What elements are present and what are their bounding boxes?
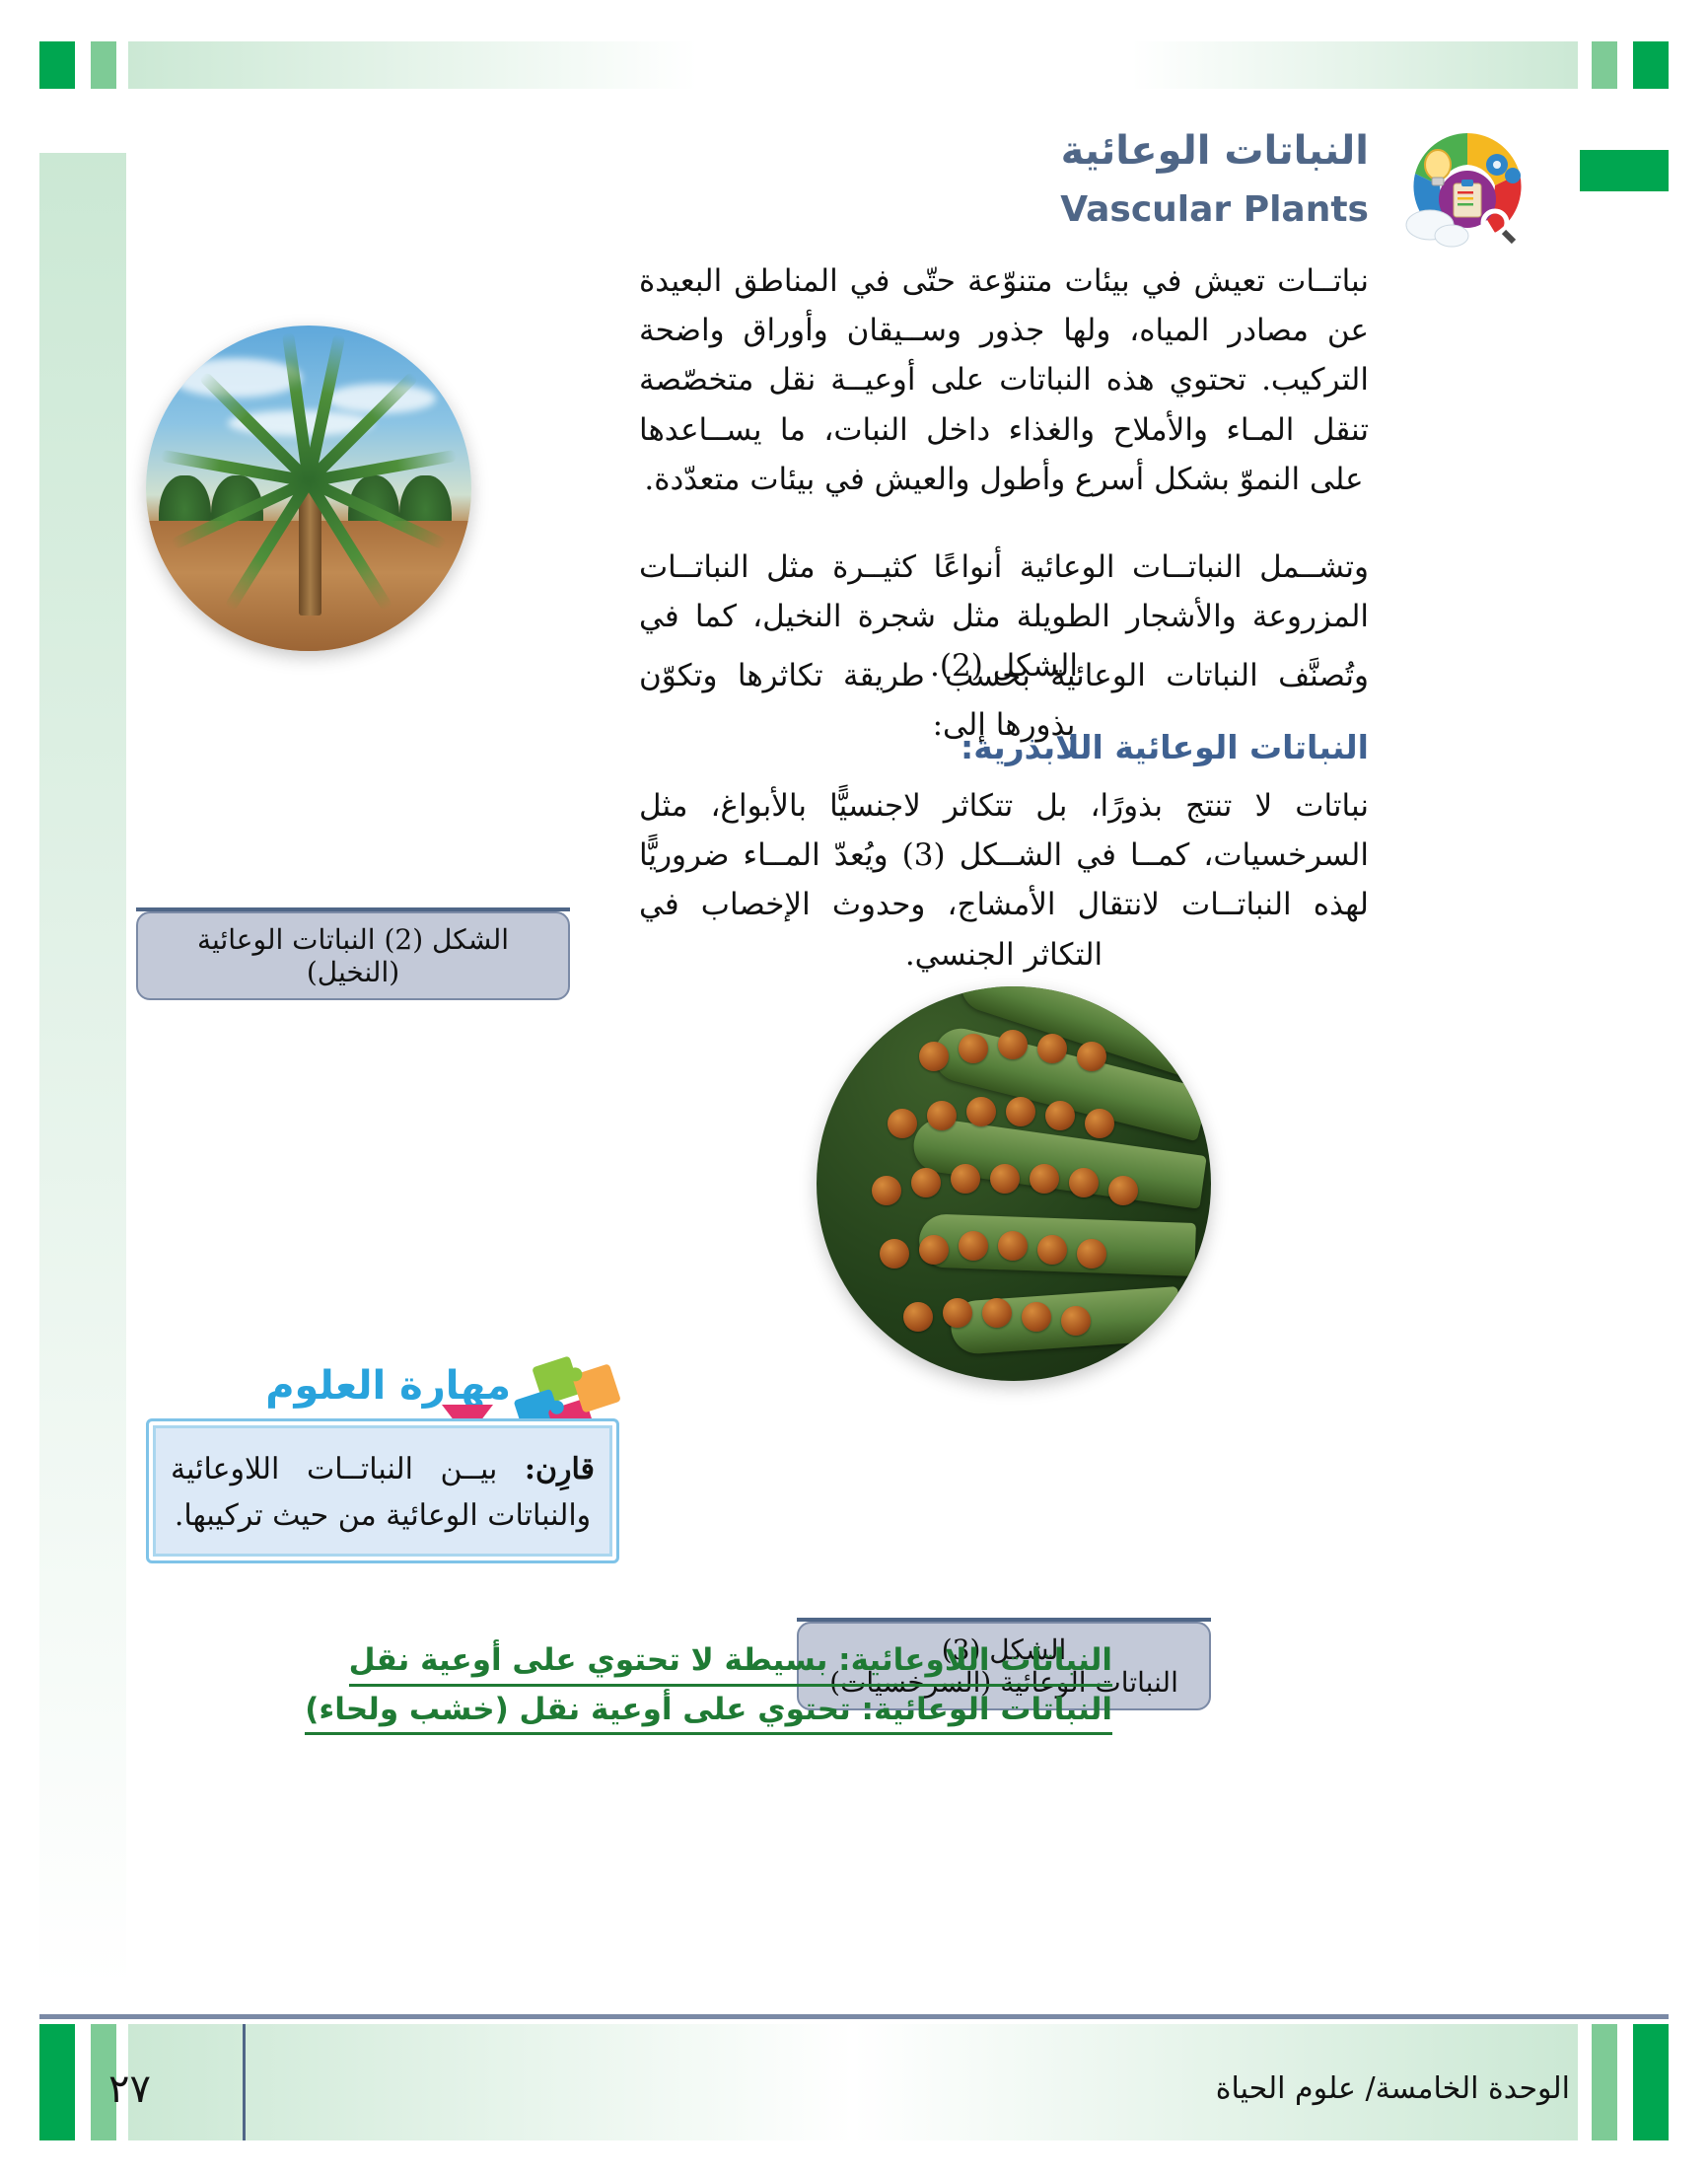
figure-2-caption: الشكل (2) النباتات الوعائية (النخيل)	[136, 911, 570, 1000]
footer-bar-green-dark-left	[39, 2024, 75, 2140]
top-bar-gradient-left	[128, 41, 858, 89]
page-title: النباتات الوعائية	[1061, 128, 1369, 174]
fern-sori-photo	[817, 986, 1211, 1381]
page-number: ٢٧	[108, 2066, 151, 2112]
answer-line-2: النباتات الوعائية: تحتوي على أوعية نقل (…	[305, 1687, 1112, 1736]
top-bar-green-dark-left	[39, 41, 75, 89]
footer-unit-label: الوحدة الخامسة/ علوم الحياة	[1216, 2071, 1570, 2106]
skill-prompt-label: قارِن:	[525, 1452, 595, 1486]
top-bar-gradient-right	[1006, 41, 1578, 89]
answer-line-1: النباتات اللاوعائية: بسيطة لا تحتوي على …	[349, 1637, 1112, 1687]
footer-rule	[39, 2014, 1669, 2019]
science-process-wheel-icon	[1369, 109, 1566, 256]
right-green-tab	[1580, 150, 1669, 191]
science-skill-title: مهارة العلوم	[265, 1363, 511, 1409]
footer-divider	[243, 2024, 246, 2140]
top-bar-green-mid-right	[1592, 41, 1617, 89]
paragraph-intro: نباتــات تعيش في بيئات متنوّعة حتّى في ا…	[639, 256, 1369, 504]
student-answer: النباتات اللاوعائية: بسيطة لا تحتوي على …	[87, 1637, 1112, 1735]
subheading-seedless: النباتات الوعائية اللابذرية:	[639, 728, 1369, 766]
page-content: النباتات الوعائية Vascular Plants	[126, 118, 1566, 1993]
science-skill-prompt: قارِن: بيــن النباتــات اللاوعائية والنب…	[146, 1418, 619, 1563]
paragraph-seedless: نباتات لا تنتج بذورًا، بل تتكاثر لاجنسيً…	[639, 781, 1369, 979]
footer-bar-green-mid-right	[1592, 2024, 1617, 2140]
figure-2-caption-wrap: الشكل (2) النباتات الوعائية (النخيل)	[136, 907, 570, 1000]
top-bar-green-dark-right	[1633, 41, 1669, 89]
palm-tree-photo	[146, 326, 471, 651]
top-bar-green-mid-left	[91, 41, 116, 89]
footer-bar-green-dark-right	[1633, 2024, 1669, 2140]
page-title-english: Vascular Plants	[1060, 189, 1369, 230]
